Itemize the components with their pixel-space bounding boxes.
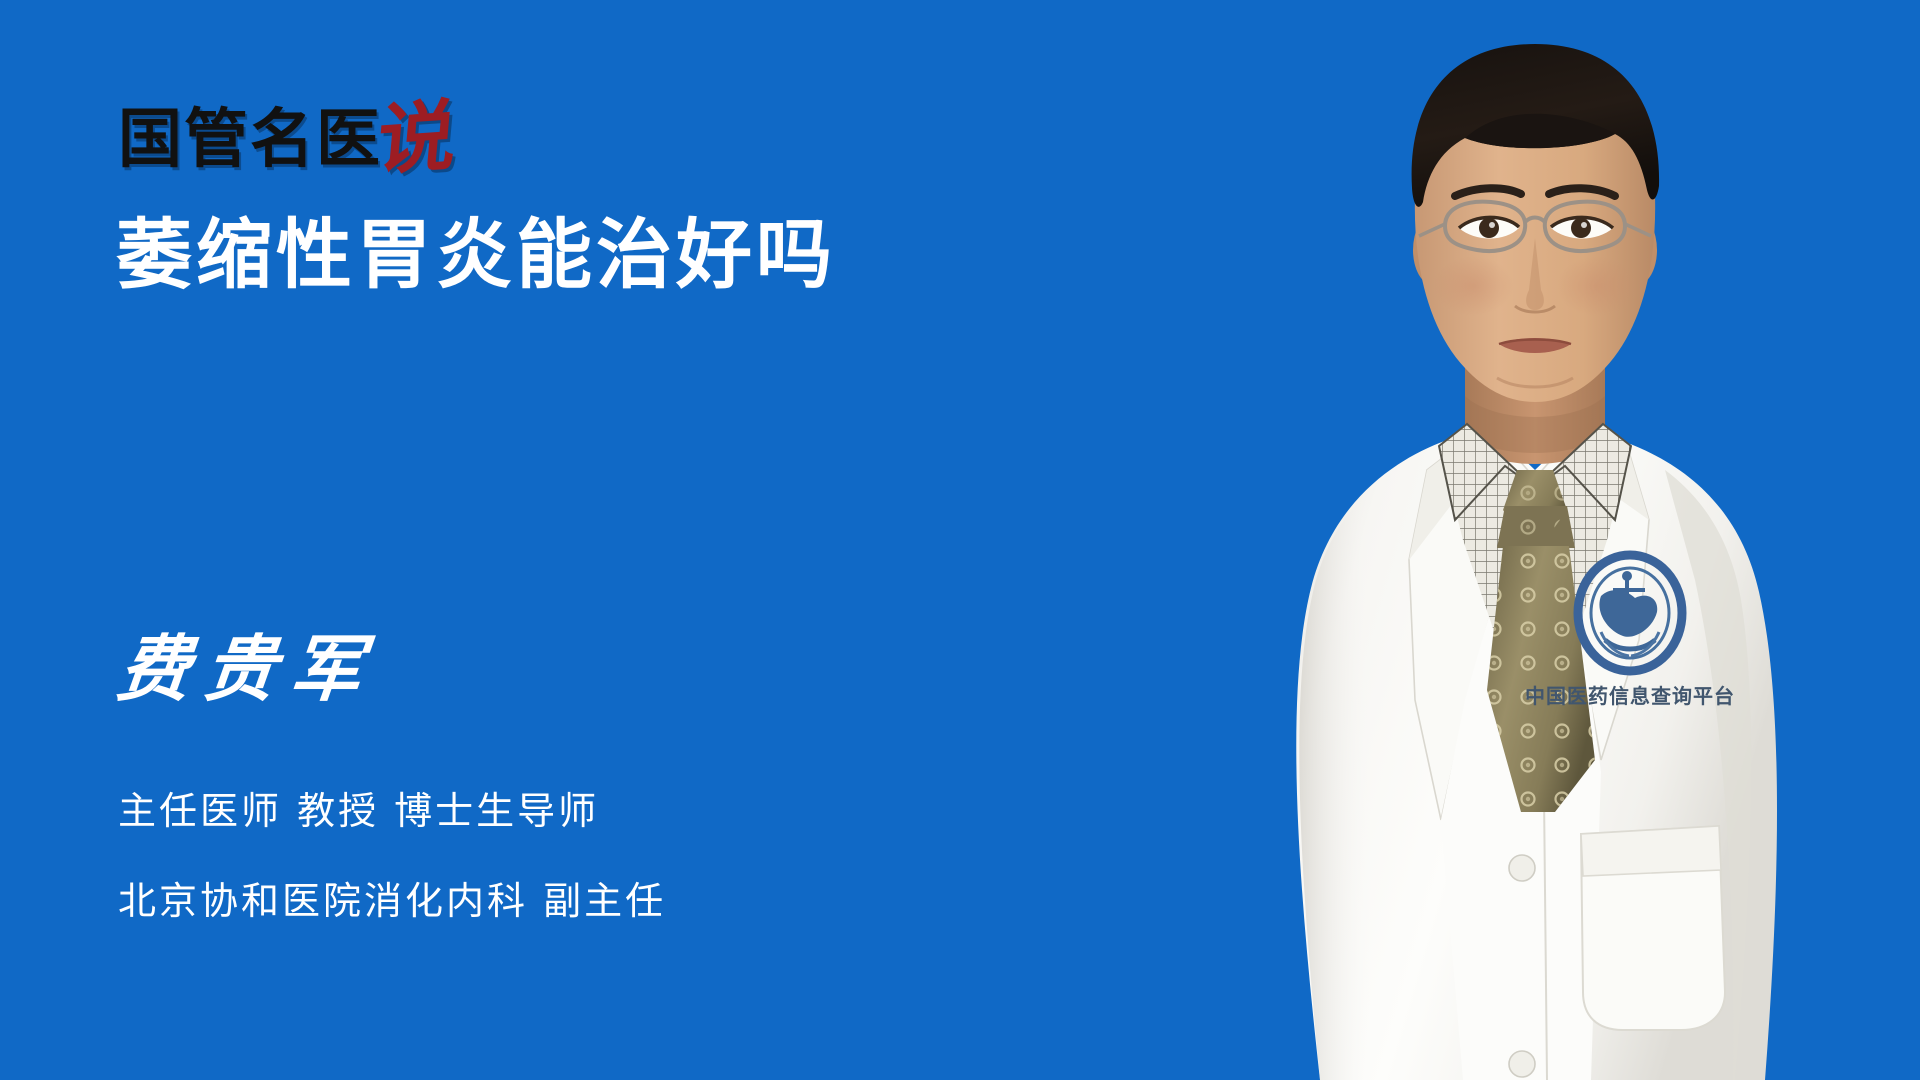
brand-logo-text: 国管名医: [118, 106, 382, 174]
speaker-name: 费贵军: [113, 625, 380, 713]
speaker-credential-line: 北京协和医院消化内科 副主任: [118, 875, 666, 927]
portrait-illustration: 中国医药信息查询平台: [1035, 0, 1920, 1080]
speaker-credential-line: 主任医师 教授 博士生导师: [118, 785, 599, 837]
head: [1412, 44, 1659, 402]
coat-badge-text: 中国医药信息查询平台: [1525, 684, 1735, 708]
title-card: 国管名医 说 萎缩性胃炎能治好吗 费贵军 主任医师 教授 博士生导师 北京协和医…: [0, 0, 1920, 1080]
coat-button: [1509, 855, 1535, 881]
brand-logo-accent-character: 说: [375, 101, 460, 176]
brand-logo: 国管名医 说: [118, 88, 456, 174]
coat-button: [1509, 1051, 1535, 1077]
page-title: 萎缩性胃炎能治好吗: [116, 207, 836, 303]
coat-badge-emblem: [1574, 551, 1686, 675]
speaker-portrait-photo: 中国医药信息查询平台: [1035, 0, 1920, 1080]
